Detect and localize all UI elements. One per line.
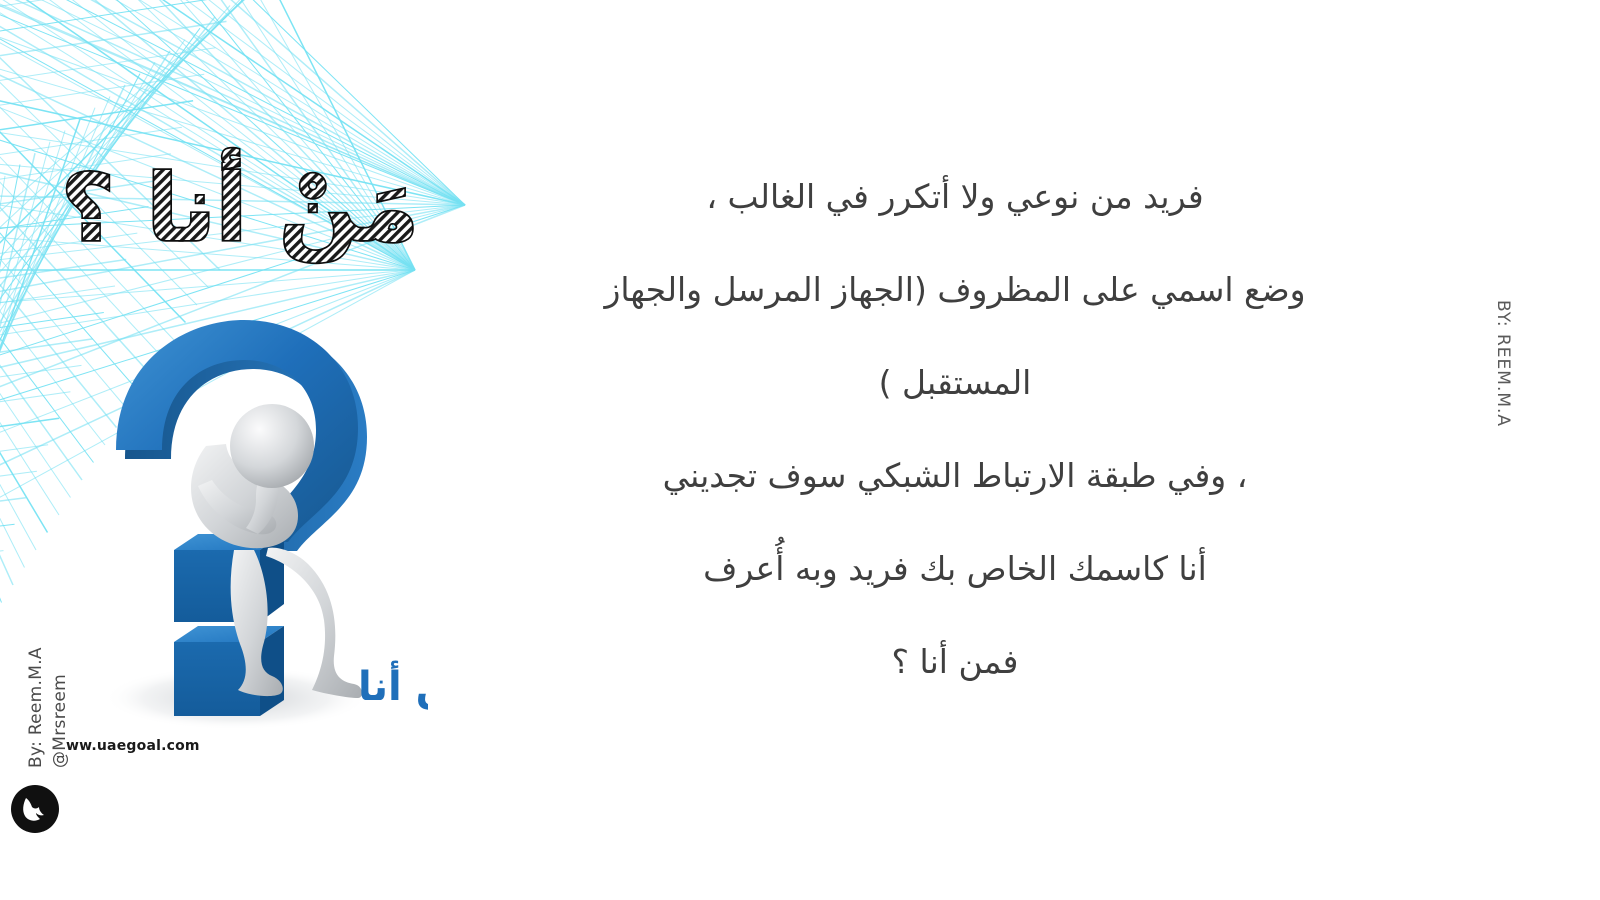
body-line-1: فريد من نوعي ولا أتكرر في الغالب ،: [560, 150, 1350, 243]
circular-bird-logo-icon: [10, 784, 60, 834]
body-text-block: فريد من نوعي ولا أتكرر في الغالب ، وضع ا…: [560, 150, 1350, 708]
page-title: مَنْ أنا ؟: [60, 132, 420, 272]
credit-left: By: Reem.M.A @Mrsreem: [6, 630, 62, 780]
credit-right: BY: REEM.M.A: [1505, 300, 1545, 460]
body-line-4: أنا كاسمك الخاص بك فريد وبه أُعرف: [560, 522, 1350, 615]
credit-left-handle: @Mrsreem: [50, 674, 70, 768]
illustration-image: من أنا: [58, 298, 428, 778]
body-line-5: فمن أنا ؟: [560, 615, 1350, 708]
illustration-source-url: ww.uaegoal.com: [66, 738, 200, 754]
body-line-3: ، وفي طبقة الارتباط الشبكي سوف تجديني: [560, 429, 1350, 522]
illustration-overlay-text: من أنا: [358, 660, 428, 710]
credit-right-author: BY: REEM.M.A: [1493, 300, 1513, 427]
question-mark-lower-cube: [174, 626, 284, 716]
credit-left-author: By: Reem.M.A: [26, 647, 46, 768]
body-line-2: وضع اسمي على المظروف (الجهاز المرسل والج…: [560, 243, 1350, 429]
page-title-glyphs: مَنْ أنا ؟: [61, 148, 419, 263]
slide-canvas: مَنْ أنا ؟: [0, 0, 1600, 900]
